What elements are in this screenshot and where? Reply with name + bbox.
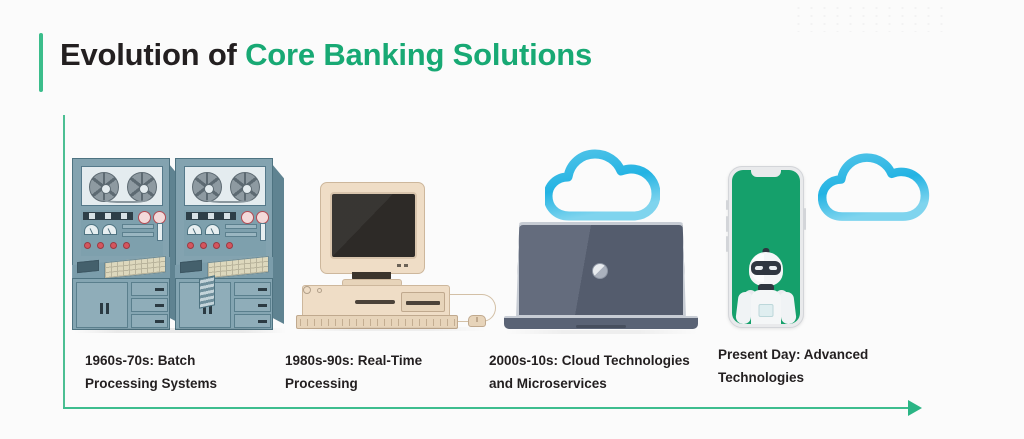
phone-screen[interactable] xyxy=(732,170,800,324)
mainframe-cabinet xyxy=(175,278,273,330)
laptop-shadow xyxy=(504,330,698,334)
page-title-accent: Core Banking Solutions xyxy=(245,37,592,72)
laptop-logo-icon xyxy=(592,263,608,279)
mainframe-unit xyxy=(175,158,275,330)
cabinet-drawers xyxy=(234,282,271,328)
page-title-plain: Evolution of xyxy=(60,37,245,72)
cloud-icon xyxy=(818,150,930,228)
phone-volume-down-button[interactable] xyxy=(726,236,728,252)
caption-line: 2000s-10s: Cloud Technologies xyxy=(489,349,709,372)
stage-caption-real-time-processing: 1980s-90s: Real-Time Processing xyxy=(285,349,475,395)
caption-line: 1980s-90s: Real-Time xyxy=(285,349,475,372)
cloud-icon xyxy=(545,146,660,228)
phone-volume-up-button[interactable] xyxy=(726,216,728,232)
mainframe-cabinet xyxy=(72,278,170,330)
keyboard-keys xyxy=(300,319,456,326)
status-leds xyxy=(84,242,144,251)
panel-grid xyxy=(157,223,163,241)
crt-monitor xyxy=(320,182,425,274)
phone-mute-switch[interactable] xyxy=(726,200,728,210)
status-leds xyxy=(187,242,247,251)
caption-line: 1960s-70s: Batch xyxy=(85,349,265,372)
reset-button-icon xyxy=(317,288,322,293)
robot-eye xyxy=(769,266,778,270)
mainframe-control-panel xyxy=(81,210,163,256)
mainframe-control-panel xyxy=(184,210,266,256)
mainframe-side-panel xyxy=(272,164,284,324)
power-button-icon xyxy=(303,286,311,294)
tape-reel-window xyxy=(184,166,266,206)
cabinet-vents xyxy=(199,275,215,308)
ai-robot-icon xyxy=(737,248,795,324)
panel-slots xyxy=(225,224,257,240)
floppy-drive-icon xyxy=(401,292,445,312)
crt-screen xyxy=(330,192,417,259)
desktop-tower-horizontal xyxy=(302,285,450,318)
stage-illustration-desktop xyxy=(296,182,486,330)
gauge-icon xyxy=(138,211,151,224)
phone-notch xyxy=(751,170,781,177)
caption-line: Processing xyxy=(285,372,475,395)
dot-grid-decoration xyxy=(792,4,948,32)
robot-visor xyxy=(751,261,781,275)
mouse-icon xyxy=(468,315,486,327)
stage-illustration-mainframe xyxy=(72,158,287,330)
tape-path xyxy=(205,194,252,203)
cabinet-handle xyxy=(106,303,109,314)
caption-line: Processing Systems xyxy=(85,372,265,395)
stage-illustration-laptop xyxy=(504,222,698,332)
tape-path xyxy=(102,194,149,203)
panel-grid xyxy=(260,223,266,241)
title-accent-bar xyxy=(39,33,43,92)
caption-line: and Microservices xyxy=(489,372,709,395)
cabinet-handle xyxy=(100,303,103,314)
stage-caption-cloud-microservices: 2000s-10s: Cloud Technologies and Micros… xyxy=(489,349,709,395)
mainframe-unit xyxy=(72,158,172,330)
indicator-strip xyxy=(186,212,236,220)
disk-slot xyxy=(355,300,395,304)
cabinet-door xyxy=(76,282,128,328)
console-screen xyxy=(77,260,99,273)
panel-slots xyxy=(122,224,154,240)
tape-reel-window xyxy=(81,166,163,206)
timeline-horizontal-axis xyxy=(63,407,913,409)
dial-icon xyxy=(187,224,202,235)
robot-torso xyxy=(751,290,781,324)
infographic-canvas: Evolution of Core Banking Solutions xyxy=(0,0,1024,439)
timeline-arrow-icon xyxy=(908,400,922,416)
laptop-base xyxy=(504,316,698,329)
phone-power-button[interactable] xyxy=(804,208,806,230)
indicator-strip xyxy=(83,212,133,220)
stage-caption-batch-processing: 1960s-70s: Batch Processing Systems xyxy=(85,349,265,395)
monitor-indicator-lights xyxy=(397,264,415,268)
timeline-vertical-axis xyxy=(63,115,65,409)
stage-illustration-smartphone xyxy=(728,166,804,328)
dial-icon xyxy=(102,224,117,235)
console-screen xyxy=(180,260,202,273)
mainframe-shadow xyxy=(74,328,286,333)
robot-chest-panel xyxy=(759,304,774,317)
caption-line: Present Day: Advanced xyxy=(718,343,918,366)
dial-icon xyxy=(84,224,99,235)
stage-caption-advanced-technologies: Present Day: Advanced Technologies xyxy=(718,343,918,389)
cabinet-drawers xyxy=(131,282,168,328)
gauge-icon xyxy=(241,211,254,224)
page-title: Evolution of Core Banking Solutions xyxy=(60,37,592,73)
robot-eye xyxy=(755,266,764,270)
desktop-shadow xyxy=(296,327,486,331)
caption-line: Technologies xyxy=(718,366,918,389)
dial-icon xyxy=(205,224,220,235)
